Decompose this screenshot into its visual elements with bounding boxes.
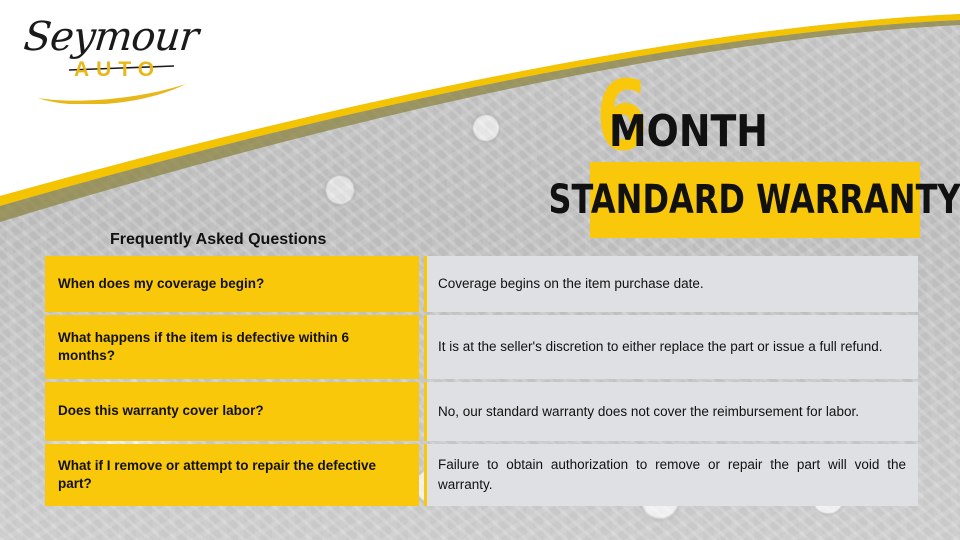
table-row: When does my coverage begin? Coverage be… — [45, 256, 918, 312]
faq-question-cell: What if I remove or attempt to repair th… — [45, 444, 419, 506]
faq-question-cell: When does my coverage begin? — [45, 256, 419, 312]
standard-warranty-banner: STANDARD WARRANTY — [590, 162, 920, 238]
hero-duration: 6 MONTH — [596, 58, 926, 158]
faq-table: When does my coverage begin? Coverage be… — [45, 256, 918, 506]
standard-warranty-label: STANDARD WARRANTY — [549, 180, 960, 220]
table-row: What if I remove or attempt to repair th… — [45, 444, 918, 506]
faq-answer-text: It is at the seller's discretion to eith… — [438, 337, 906, 357]
faq-answer-cell: It is at the seller's discretion to eith… — [424, 315, 918, 379]
faq-answer-text: No, our standard warranty does not cover… — [438, 402, 906, 422]
faq-answer-cell: Failure to obtain authorization to remov… — [424, 444, 918, 506]
seymour-auto-logo: Seymour AUTO — [14, 12, 204, 104]
table-row: What happens if the item is defective wi… — [45, 315, 918, 379]
faq-question-cell: Does this warranty cover labor? — [45, 382, 419, 441]
hero-unit-label: MONTH — [609, 110, 768, 154]
faq-answer-text: Failure to obtain authorization to remov… — [438, 455, 906, 494]
logo-subtext: AUTO — [74, 58, 161, 82]
faq-answer-cell: No, our standard warranty does not cover… — [424, 382, 918, 441]
faq-answer-cell: Coverage begins on the item purchase dat… — [424, 256, 918, 312]
warranty-slide: Seymour AUTO 6 MONTH STANDARD WARRANTY F… — [0, 0, 960, 540]
faq-heading: Frequently Asked Questions — [110, 231, 326, 249]
table-row: Does this warranty cover labor? No, our … — [45, 382, 918, 441]
faq-question-cell: What happens if the item is defective wi… — [45, 315, 419, 379]
faq-answer-text: Coverage begins on the item purchase dat… — [438, 274, 906, 294]
